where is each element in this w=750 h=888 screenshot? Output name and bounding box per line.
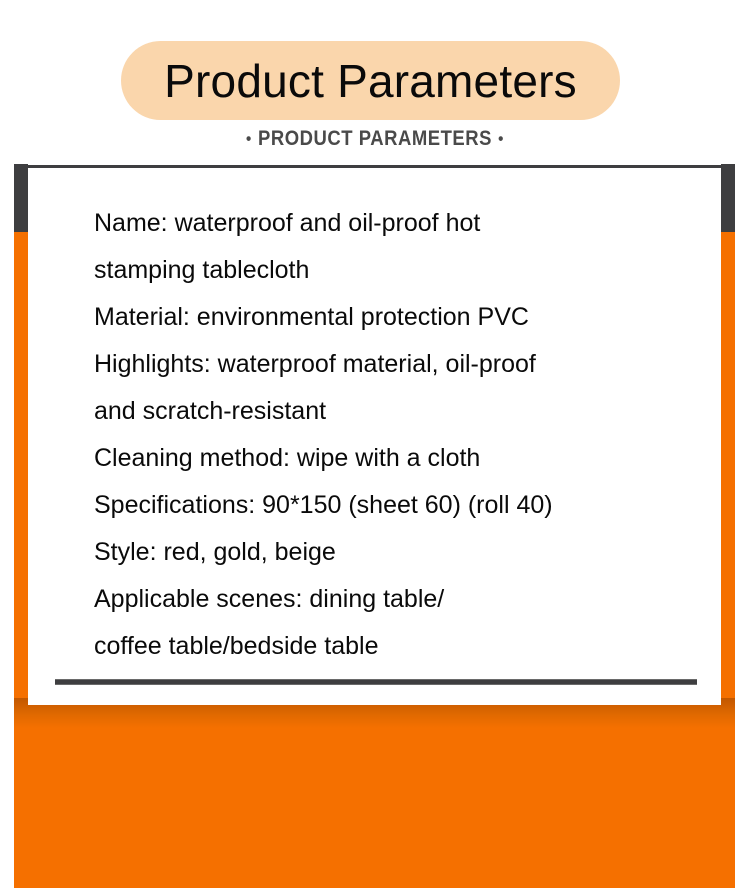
- parameters-list: Name: waterproof and oil-proof hot stamp…: [94, 200, 704, 670]
- bullet-left-icon: •: [240, 126, 258, 152]
- list-item: Specifications: 90*150 (sheet 60) (roll …: [94, 482, 704, 529]
- list-item: and scratch-resistant: [94, 388, 704, 435]
- page-title: Product Parameters: [121, 41, 620, 120]
- list-item: Applicable scenes: dining table/: [94, 576, 704, 623]
- bullet-right-icon: •: [492, 126, 510, 152]
- list-item: Name: waterproof and oil-proof hot: [94, 200, 704, 247]
- list-item: Material: environmental protection PVC: [94, 294, 704, 341]
- list-item: Highlights: waterproof material, oil-pro…: [94, 341, 704, 388]
- page-header: Product Parameters •PRODUCT PARAMETERS•: [0, 0, 750, 158]
- list-item: Style: red, gold, beige: [94, 529, 704, 576]
- parameters-frame: Name: waterproof and oil-proof hot stamp…: [0, 158, 750, 763]
- card-divider: [55, 679, 697, 685]
- corner-bracket-left: [14, 164, 28, 232]
- page-subtitle: •PRODUCT PARAMETERS•: [45, 126, 705, 152]
- corner-bracket-right: [721, 164, 735, 232]
- list-item: coffee table/bedside table: [94, 623, 704, 670]
- parameters-card: Name: waterproof and oil-proof hot stamp…: [28, 165, 721, 705]
- page-subtitle-label: PRODUCT PARAMETERS: [258, 127, 492, 150]
- list-item: stamping tablecloth: [94, 247, 704, 294]
- list-item: Cleaning method: wipe with a cloth: [94, 435, 704, 482]
